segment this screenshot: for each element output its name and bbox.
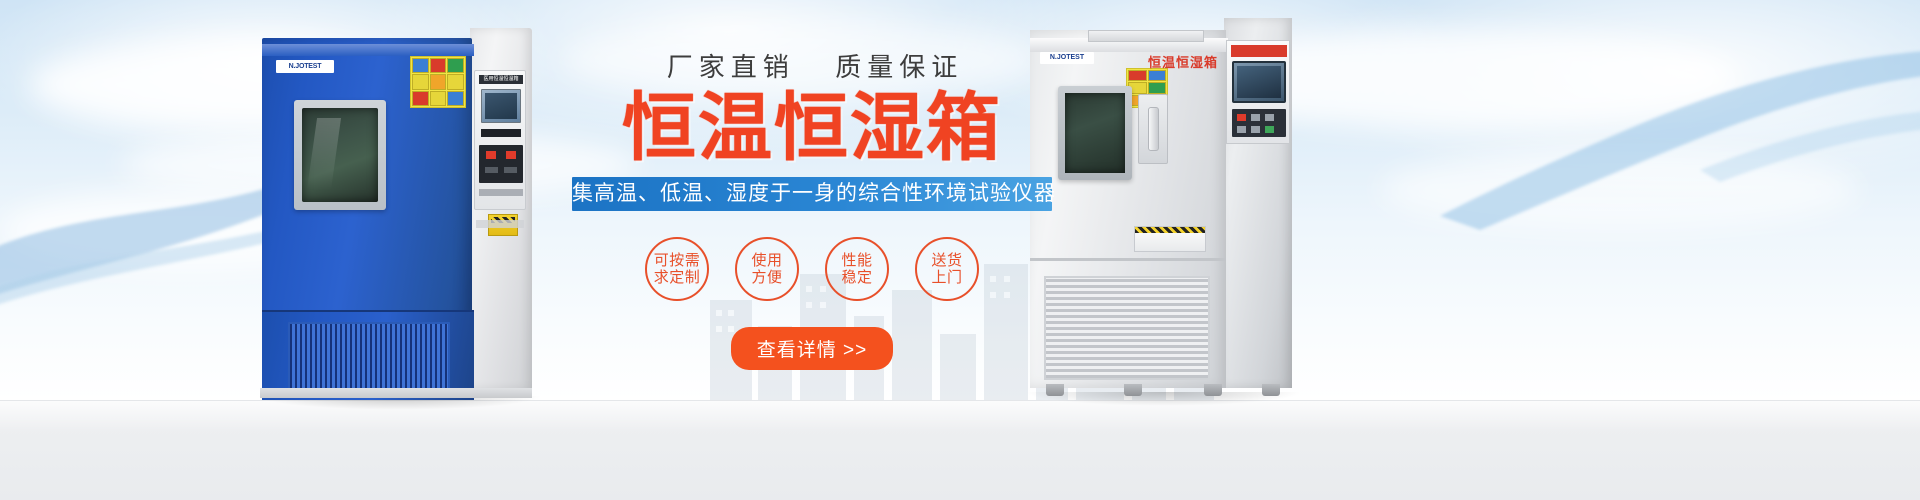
warning-label-cluster [410,56,466,108]
banner-tagline: 厂家直销 质量保证 [572,52,1052,83]
chamber-vent-grille [288,322,450,392]
led-indicator [506,151,516,159]
chamber-control-panel: 医用恒温恒温箱 [474,70,526,210]
lcd-readout [481,129,521,137]
feature-circle-3[interactable]: 性能 稳定 [825,237,889,301]
feature-circle-2[interactable]: 使用 方便 [735,237,799,301]
banner-text-block: 厂家直销 质量保证 恒温恒湿箱 集高温、低温、湿度于一身的综合性环境试验仪器 可… [572,52,1052,370]
led-label [504,167,517,173]
tagline-right: 质量保证 [835,52,963,82]
control-panel-screen [1232,61,1286,103]
control-keypad [1232,109,1286,137]
product-image-grey-chamber: N.JOTEST 恒温恒湿箱 [1030,12,1292,400]
side-caption-label [476,220,524,228]
feature-circle-4-line2: 上门 [931,269,962,286]
chamber-door-window [302,108,378,202]
feature-circle-3-line1: 性能 [841,252,872,269]
chamber-base [260,388,532,398]
cta-container: 查看详情 >> [572,327,1052,370]
promo-banner: N.JOTEST 医用恒温恒温箱 [0,0,1920,500]
chamber-door-window [1065,93,1125,173]
control-panel-title: 医用恒温恒温箱 [479,75,523,84]
chamber-top-bar [1088,30,1204,42]
control-panel-screen [481,89,521,123]
window-glare [307,118,341,190]
feature-circle-3-line2: 稳定 [841,269,872,286]
feature-circle-4[interactable]: 送货 上门 [915,237,979,301]
chamber-lower-section [262,310,474,400]
caution-sticker [1134,226,1206,252]
control-panel-title [1231,45,1287,57]
panel-brand-footer [479,189,523,196]
feature-circle-2-line1: 使用 [751,252,782,269]
chamber-door-handle-plate [1138,94,1168,164]
screen-display [485,93,517,119]
feature-circle-4-line1: 送货 [931,252,962,269]
control-button-bar [479,145,523,183]
led-label [485,167,498,173]
led-indicator [486,151,496,159]
tagline-left: 厂家直销 [667,52,795,82]
screen-display [1237,66,1281,98]
banner-headline: 恒温恒湿箱 [572,89,1052,167]
chamber-door-handle [1148,107,1159,151]
chamber-front-body: N.JOTEST [262,38,472,390]
chamber-divider-line [1030,258,1226,261]
brand-logo-plate: N.JOTEST [276,60,334,73]
chamber-door-window-frame [1058,86,1132,180]
chamber-control-panel [1226,40,1290,144]
chamber-vent-grille [1044,276,1210,380]
chamber-feet [1038,384,1288,396]
feature-circle-list: 可按需 求定制 使用 方便 性能 稳定 送货 上门 [572,237,1052,301]
banner-subtitle-bar: 集高温、低温、湿度于一身的综合性环境试验仪器 [572,177,1052,211]
product-image-blue-chamber: N.JOTEST 医用恒温恒温箱 [262,28,532,400]
chamber-model-title: 恒温恒湿箱 [1148,52,1218,71]
feature-circle-2-line2: 方便 [751,269,782,286]
feature-circle-1-line1: 可按需 [654,252,701,269]
chamber-top-edge [262,44,474,56]
view-details-button[interactable]: 查看详情 >> [731,327,893,370]
ground-strip [0,400,1920,500]
feature-circle-1-line2: 求定制 [654,269,701,286]
feature-circle-1[interactable]: 可按需 求定制 [645,237,709,301]
chamber-front-body: N.JOTEST 恒温恒湿箱 [1030,30,1226,388]
chamber-door-window-frame [294,100,386,210]
